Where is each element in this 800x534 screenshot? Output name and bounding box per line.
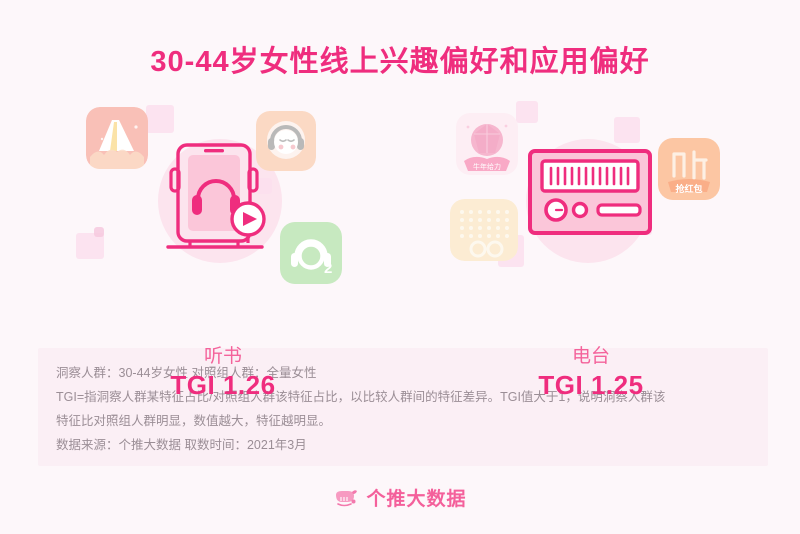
brand-name: 个推大数据 (366, 484, 466, 511)
speaker-grid-app-icon[interactable] (450, 199, 518, 261)
brand-footer: 个推大数据 (0, 484, 800, 511)
decor-chip (94, 227, 104, 237)
audiobook-device-icon (154, 133, 286, 269)
category-name: 电台 (426, 345, 756, 369)
decor-chip (516, 101, 538, 123)
decor-chip (146, 105, 174, 133)
cluster-label-audiobook: 听书 TGI 1.26 (58, 345, 388, 401)
peach-gem-app-icon[interactable]: 牛年给力 (456, 113, 518, 175)
svg-text:2: 2 (324, 260, 332, 277)
cluster-audiobook: 2 (58, 95, 388, 320)
cluster-radio: 牛年给力 (418, 95, 748, 320)
tgi-value: TGI 1.26 (58, 369, 388, 402)
decor-chip (614, 117, 640, 143)
svg-text:抢红包: 抢红包 (675, 183, 702, 194)
footnote-line: 数据来源：个推大数据 取数时间：2021年3月 (56, 433, 754, 457)
ting-hongbao-app-icon[interactable]: 抢红包 (658, 138, 720, 200)
tgi-value: TGI 1.25 (426, 369, 756, 402)
svg-text:牛年给力: 牛年给力 (473, 162, 501, 171)
radio-receiver-icon (522, 143, 658, 255)
infographic-canvas: 30-44岁女性线上兴趣偏好和应用偏好 (0, 0, 800, 534)
getui-whale-logo (333, 486, 359, 510)
cluster-label-radio: 电台 TGI 1.25 (426, 345, 756, 401)
page-title: 30-44岁女性线上兴趣偏好和应用偏好 (0, 38, 800, 80)
mountain-ox-app-icon[interactable] (86, 107, 148, 169)
footnote-line: 特征比对照组人群明显，数值越大，特征越明显。 (56, 409, 754, 433)
category-name: 听书 (58, 345, 388, 369)
qingting-o2-app-icon[interactable]: 2 (280, 222, 342, 284)
